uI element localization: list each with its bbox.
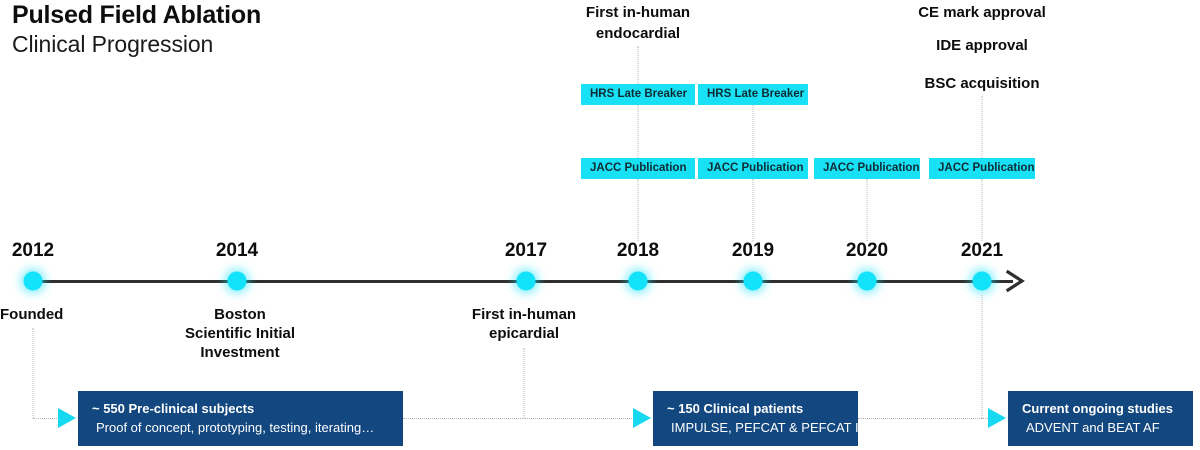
connector-jacc-to-axis-2020 [867, 179, 868, 241]
year-label-2018: 2018 [617, 240, 659, 262]
timeline-dot-2021[interactable] [973, 272, 992, 291]
info-box-ongoing-studies[interactable]: Current ongoing studies ADVENT and BEAT … [1008, 391, 1193, 446]
year-label-2012: 2012 [12, 240, 54, 262]
badge-jacc-publication-2020[interactable]: JACC Publication [814, 158, 920, 179]
timeline-dot-2014[interactable] [228, 272, 247, 291]
year-label-2019: 2019 [732, 240, 774, 262]
page-title: Pulsed Field Ablation [12, 0, 261, 30]
timeline-dot-2018[interactable] [629, 272, 648, 291]
info-box-clinical[interactable]: ~ 150 Clinical patients IMPULSE, PEFCAT … [653, 391, 858, 446]
page-subtitle: Clinical Progression [12, 30, 261, 59]
box-arrow-icon-1 [58, 405, 80, 431]
top-note-first-in-human-endocardial: First in-human endocardial [586, 2, 690, 44]
badge-jacc-publication-2021[interactable]: JACC Publication [929, 158, 1035, 179]
timeline-arrow-icon [1000, 268, 1032, 294]
top-note-ce-mark-approval: CE mark approval [918, 2, 1046, 23]
connector-box-1-to-epicardial [403, 418, 523, 419]
connector-jacc-to-axis-2021 [982, 179, 983, 241]
info-box-clinical-sub: IMPULSE, PEFCAT & PEFCAT II [667, 418, 846, 437]
below-note-founded: Founded [0, 305, 63, 324]
connector-box-2-to-box-3 [858, 418, 982, 419]
connector-founded-to-box-1 [33, 328, 34, 418]
connector-2021-to-box-3 [982, 295, 983, 418]
top-note-bsc-acquisition: BSC acquisition [924, 73, 1039, 94]
connector-epicardial-to-box-2 [524, 348, 525, 418]
badge-jacc-publication-2018[interactable]: JACC Publication [581, 158, 695, 179]
timeline-dot-2020[interactable] [858, 272, 877, 291]
timeline-infographic: Pulsed Field Ablation Clinical Progressi… [0, 0, 1200, 450]
connector-jacc-to-axis-2018 [638, 179, 639, 241]
badge-jacc-publication-2019[interactable]: JACC Publication [698, 158, 808, 179]
year-label-2014: 2014 [216, 240, 258, 262]
title-block: Pulsed Field Ablation Clinical Progressi… [12, 0, 261, 59]
badge-hrs-late-breaker-2018[interactable]: HRS Late Breaker [581, 84, 695, 105]
timeline-dot-2017[interactable] [517, 272, 536, 291]
info-box-preclinical-sub: Proof of concept, prototyping, testing, … [92, 418, 391, 437]
year-label-2021: 2021 [961, 240, 1003, 262]
connector-hrs-to-jacc-2018 [638, 105, 639, 158]
info-box-ongoing-studies-sub: ADVENT and BEAT AF [1022, 418, 1181, 437]
connector-jacc-to-axis-2019 [753, 179, 754, 241]
connector-endocardial-to-hrs [638, 46, 639, 84]
connector-horizontal-to-box-2 [524, 418, 644, 419]
year-label-2017: 2017 [505, 240, 547, 262]
badge-hrs-late-breaker-2019[interactable]: HRS Late Breaker [698, 84, 808, 105]
below-note-boston-scientific-initial-investment: Boston Scientific Initial Investment [185, 305, 295, 362]
top-note-ide-approval: IDE approval [936, 35, 1028, 56]
below-note-first-in-human-epicardial: First in-human epicardial [472, 305, 576, 343]
connector-hrs-to-jacc-2019 [753, 105, 754, 158]
box-arrow-icon-2 [633, 405, 655, 431]
box-arrow-icon-3 [988, 405, 1010, 431]
info-box-clinical-head: ~ 150 Clinical patients [667, 400, 846, 418]
timeline-dot-2012[interactable] [24, 272, 43, 291]
info-box-preclinical-head: ~ 550 Pre-clinical subjects [92, 400, 391, 418]
timeline-dot-2019[interactable] [744, 272, 763, 291]
info-box-ongoing-studies-head: Current ongoing studies [1022, 400, 1181, 418]
info-box-preclinical[interactable]: ~ 550 Pre-clinical subjects Proof of con… [78, 391, 403, 446]
year-label-2020: 2020 [846, 240, 888, 262]
connector-approvals-to-jacc-2021 [982, 96, 983, 158]
